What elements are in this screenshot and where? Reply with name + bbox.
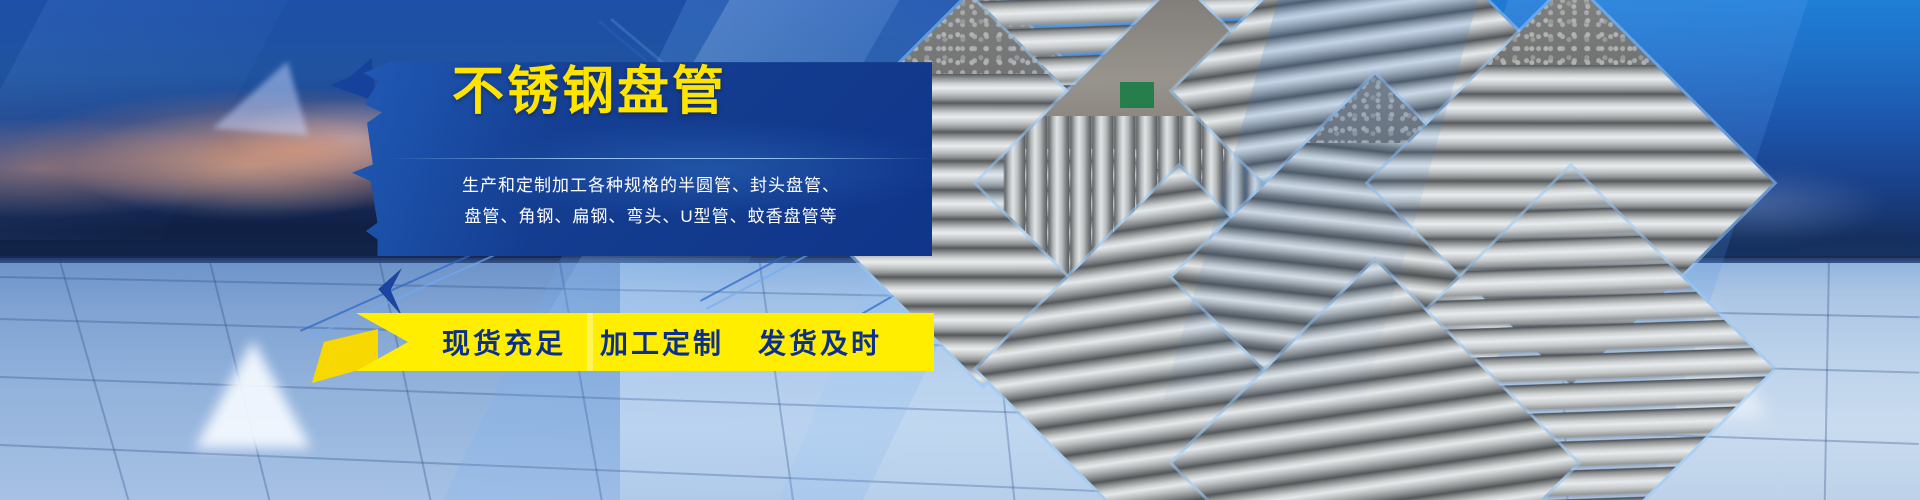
ribbon-item-stock: 现货充足 <box>442 322 566 362</box>
ribbon-item-custom: 加工定制 <box>600 322 724 362</box>
subtitle-line-1: 生产和定制加工各种规格的半圆管、封头盘管、 <box>370 170 932 201</box>
promo-banner: 不锈钢盘管 生产和定制加工各种规格的半圆管、封头盘管、 盘管、角钢、扁钢、弯头、… <box>0 0 1920 500</box>
panel-divider <box>388 158 932 159</box>
sky-shard-icon <box>213 57 314 136</box>
ribbon-item-delivery: 发货及时 <box>758 322 882 362</box>
headline-panel: 不锈钢盘管 生产和定制加工各种规格的半圆管、封头盘管、 盘管、角钢、扁钢、弯头、… <box>352 48 932 256</box>
page-title: 不锈钢盘管 <box>452 64 727 121</box>
ribbon-text-group: 现货充足 加工定制 发货及时 <box>356 313 934 371</box>
panel-subtitle: 生产和定制加工各种规格的半圆管、封头盘管、 盘管、角钢、扁钢、弯头、U型管、蚊香… <box>370 170 932 232</box>
glow-triangle-icon <box>195 340 311 448</box>
product-diamond-grid <box>828 0 1528 500</box>
feature-ribbon: 现货充足 加工定制 发货及时 <box>356 313 934 371</box>
subtitle-line-2: 盘管、角钢、扁钢、弯头、U型管、蚊香盘管等 <box>370 201 932 232</box>
